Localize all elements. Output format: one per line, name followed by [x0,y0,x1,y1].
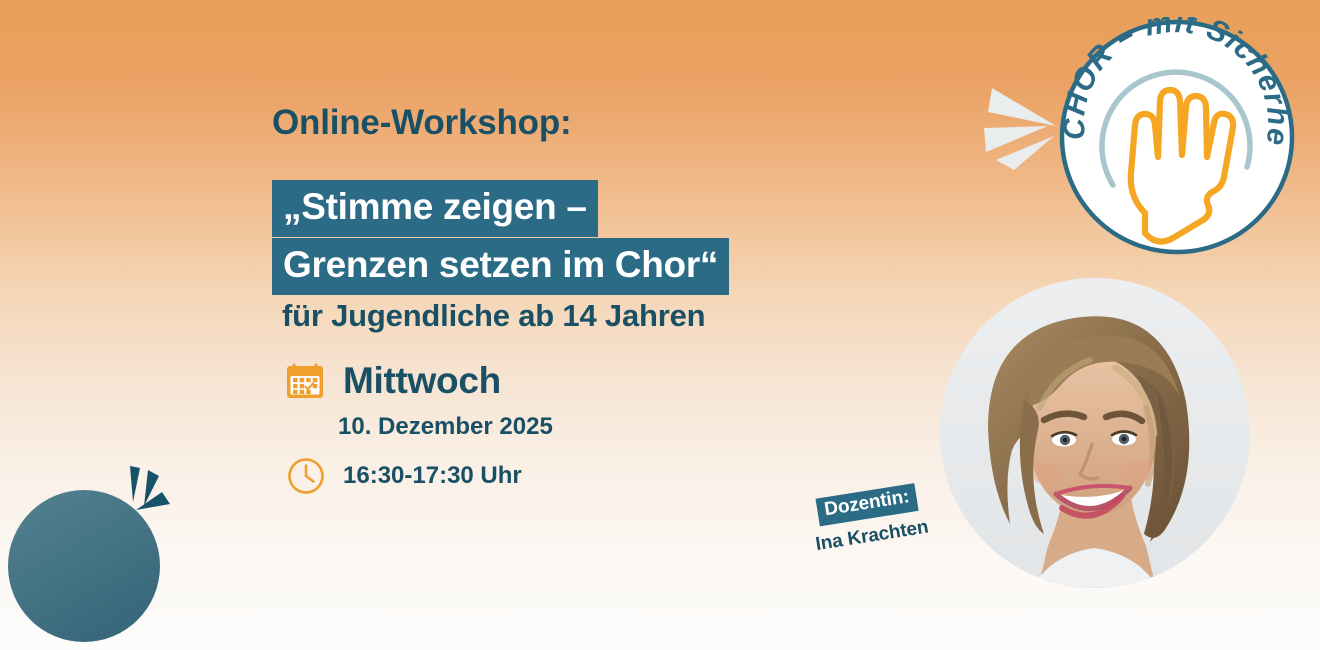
workshop-banner: Online-Workshop: „Stimme zeigen – Grenze… [0,0,1320,650]
workshop-title-line-1: „Stimme zeigen – [272,180,598,237]
clock-icon [286,456,326,496]
spark-burst-dark-icon [118,462,182,522]
spark-burst-light-icon [978,82,1064,176]
workshop-title-line-2: Grenzen setzen im Chor“ [272,238,729,295]
avatar [940,278,1250,588]
eyebrow-label: Online-Workshop: [272,103,571,143]
workshop-subtitle: für Jugendliche ab 14 Jahren [282,298,705,334]
event-time: 16:30-17:30 Uhr [343,462,522,490]
logo-chor-mit-sicherheit: CHOR – mit Sicherheit [1057,17,1297,257]
calendar-icon [284,360,326,402]
date-row: Mittwoch [284,360,501,402]
time-row: 16:30-17:30 Uhr [286,456,522,496]
event-day-name: Mittwoch [343,360,501,402]
event-full-date: 10. Dezember 2025 [338,413,553,441]
logo-badge: CHOR – mit Sicherheit [1057,17,1297,257]
portrait-image [940,278,1250,588]
text-column: Online-Workshop: „Stimme zeigen – Grenze… [272,0,972,650]
